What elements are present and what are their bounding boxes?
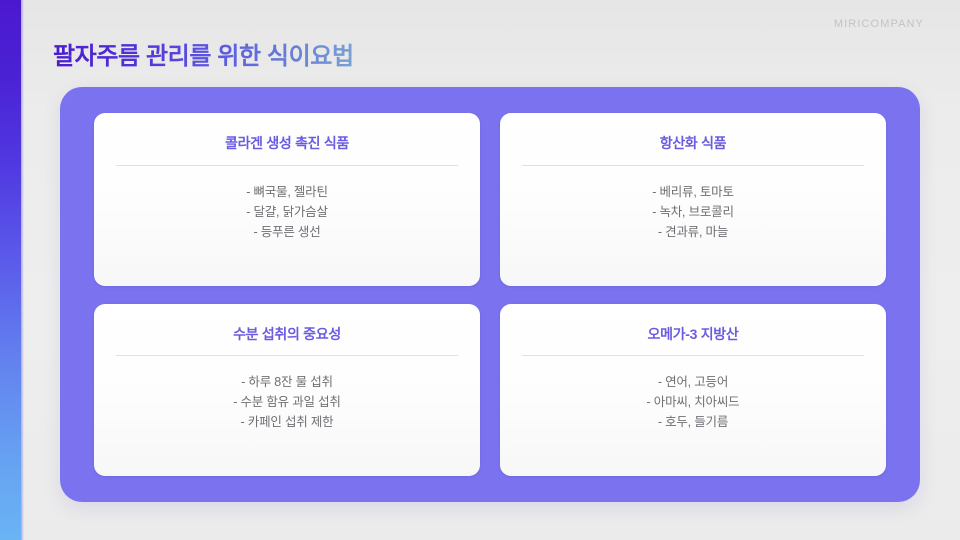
card-title: 수분 섭취의 중요성 (233, 326, 341, 343)
card-divider (116, 355, 458, 356)
card-list: - 하루 8잔 물 섭취 - 수분 함유 과일 섭취 - 카페인 섭취 제한 (233, 372, 340, 432)
brand-watermark: MIRICOMPANY (834, 18, 924, 30)
cards-panel: 콜라겐 생성 촉진 식품 - 뼈국물, 젤라틴 - 달걀, 닭가슴살 - 등푸른… (60, 87, 920, 502)
card-title: 오메가-3 지방산 (648, 326, 739, 343)
card-title: 콜라겐 생성 촉진 식품 (225, 135, 349, 152)
list-item: - 견과류, 마늘 (652, 222, 734, 242)
left-accent-bar-shadow (21, 0, 24, 540)
card-title: 항산화 식품 (660, 135, 727, 152)
list-item: - 호두, 들기름 (647, 412, 740, 432)
card-antioxidant[interactable]: 항산화 식품 - 베리류, 토마토 - 녹차, 브로콜리 - 견과류, 마늘 (500, 113, 886, 286)
list-item: - 수분 함유 과일 섭취 (233, 392, 340, 412)
card-divider (522, 355, 864, 356)
card-omega3[interactable]: 오메가-3 지방산 - 연어, 고등어 - 아마씨, 치아씨드 - 호두, 들기… (500, 304, 886, 477)
card-list: - 뼈국물, 젤라틴 - 달걀, 닭가슴살 - 등푸른 생선 (246, 182, 328, 242)
list-item: - 베리류, 토마토 (652, 182, 734, 202)
left-accent-bar (0, 0, 21, 540)
page-title: 팔자주름 관리를 위한 식이요법 (53, 36, 354, 71)
card-divider (522, 165, 864, 166)
list-item: - 연어, 고등어 (647, 372, 740, 392)
list-item: - 하루 8잔 물 섭취 (233, 372, 340, 392)
card-divider (116, 165, 458, 166)
list-item: - 달걀, 닭가슴살 (246, 202, 328, 222)
list-item: - 뼈국물, 젤라틴 (246, 182, 328, 202)
card-collagen[interactable]: 콜라겐 생성 촉진 식품 - 뼈국물, 젤라틴 - 달걀, 닭가슴살 - 등푸른… (94, 113, 480, 286)
list-item: - 등푸른 생선 (246, 222, 328, 242)
card-list: - 베리류, 토마토 - 녹차, 브로콜리 - 견과류, 마늘 (652, 182, 734, 242)
card-list: - 연어, 고등어 - 아마씨, 치아씨드 - 호두, 들기름 (647, 372, 740, 432)
list-item: - 녹차, 브로콜리 (652, 202, 734, 222)
list-item: - 아마씨, 치아씨드 (647, 392, 740, 412)
list-item: - 카페인 섭취 제한 (233, 412, 340, 432)
card-hydration[interactable]: 수분 섭취의 중요성 - 하루 8잔 물 섭취 - 수분 함유 과일 섭취 - … (94, 304, 480, 477)
